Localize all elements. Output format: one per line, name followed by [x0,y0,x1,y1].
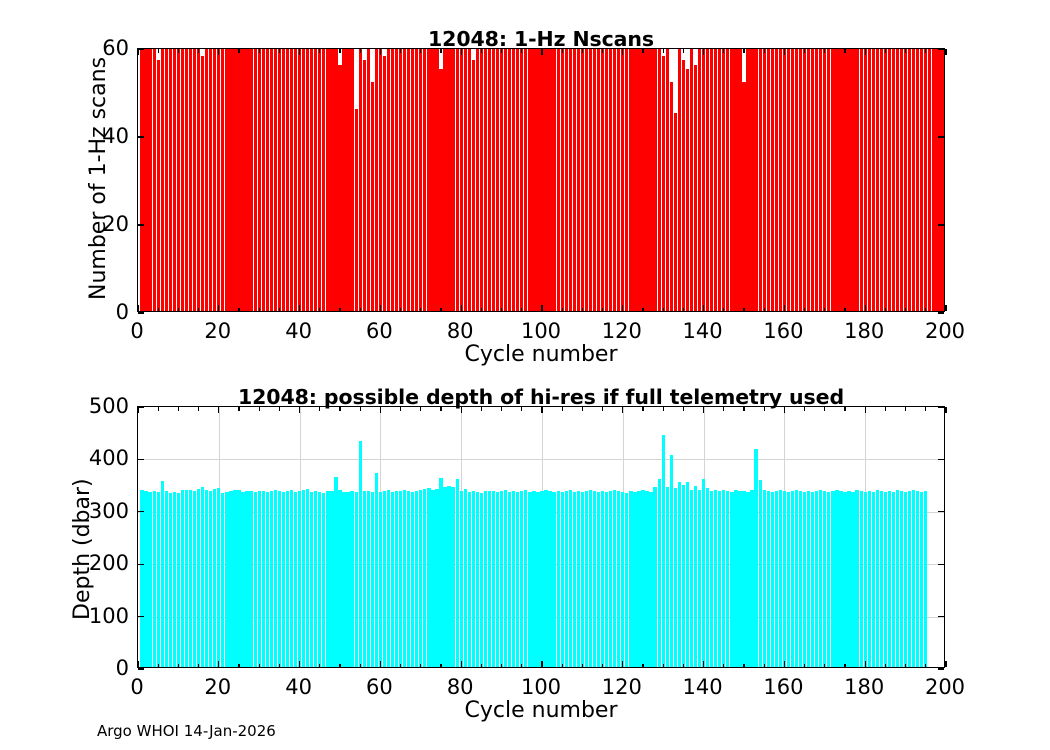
bar [722,490,725,667]
nscans-axes [137,48,945,312]
axis-tick [784,661,785,667]
bar [690,490,693,667]
axis-tick [703,49,704,55]
axis-tick [198,407,199,411]
axis-tick [925,407,926,411]
bar [399,49,402,311]
bar [516,49,519,311]
bar [447,486,450,667]
bar [645,49,648,311]
bar [314,49,317,311]
bar [342,492,345,667]
bar [363,491,366,667]
bar [144,49,147,311]
bar [334,49,337,311]
axis-tick [885,308,886,312]
axis-tick [562,664,563,668]
bar [468,492,471,667]
bar [451,49,454,311]
bar [298,491,301,667]
axis-tick [420,308,421,312]
bar [710,491,713,667]
bar [904,49,907,311]
bar [185,49,188,311]
axis-tick [938,406,944,407]
bar [678,482,681,667]
axis-tick [703,305,704,311]
nscans-plot-area [138,49,944,311]
x-tick-label: 180 [844,319,884,343]
bar [504,49,507,311]
bar [565,49,568,311]
bar [791,491,794,667]
bar [306,49,309,311]
bar [443,49,446,311]
bar [185,490,188,667]
axis-tick [622,661,623,667]
bar [161,481,164,667]
axis-tick [743,49,744,53]
axis-tick [945,407,946,413]
x-tick-label: 80 [447,319,474,343]
axis-tick [764,49,765,53]
bar [621,49,624,311]
bar [528,492,531,667]
bar [298,49,301,311]
bar [213,49,216,311]
axis-tick [481,664,482,668]
bar [338,65,341,311]
bar [694,65,697,311]
bar [670,455,673,667]
bar [415,491,418,667]
bar [924,49,927,311]
bar [605,49,608,311]
nscans-title: 12048: 1-Hz Nscans [428,27,654,51]
bar [750,49,753,311]
bar [593,491,596,667]
axis-tick [521,664,522,668]
bar [472,60,475,311]
x-tick-label: 120 [602,675,642,699]
bar [322,49,325,311]
x-tick-label: 100 [521,675,561,699]
bar [153,49,156,311]
bar [738,491,741,667]
bar [346,492,349,667]
bar [872,492,875,667]
bar [427,488,430,667]
bar [787,492,790,667]
bar [855,490,858,667]
axis-tick [138,511,144,512]
bar [476,492,479,667]
bar [827,49,830,311]
axis-tick [339,664,340,668]
bar [548,49,551,311]
bar [738,49,741,311]
bar [367,491,370,667]
bar [868,491,871,667]
bar [928,49,931,311]
bar [900,49,903,311]
bar [641,490,644,667]
x-tick-label: 140 [683,319,723,343]
bar [666,487,669,667]
axis-tick [501,308,502,312]
bar [851,49,854,311]
bar [496,492,499,667]
axis-tick [400,664,401,668]
axis-tick [865,49,866,55]
bar [383,491,386,667]
axis-tick [218,49,219,55]
bar [682,60,685,311]
bar [306,489,309,667]
bar [205,49,208,311]
bar [468,49,471,311]
axis-tick [158,407,159,411]
x-tick-label: 160 [763,319,803,343]
bar [674,488,677,667]
bar [282,492,285,667]
bar [807,491,810,667]
bar [880,49,883,311]
bar [419,49,422,311]
bar [835,49,838,311]
bar [884,49,887,311]
bar [795,49,798,311]
bar [908,491,911,667]
bar [649,49,652,311]
axis-tick [663,49,664,53]
bar [359,441,362,667]
axis-tick [723,664,724,668]
bar [197,49,200,311]
axis-tick [683,664,684,668]
bar [148,49,151,311]
axis-tick [824,49,825,53]
bar [302,490,305,667]
axis-tick [925,308,926,312]
bar [851,492,854,667]
bar [589,490,592,667]
bar [367,49,370,311]
nscans-xlabel: Cycle number [465,342,618,367]
bar [286,49,289,311]
bar [896,49,899,311]
bar [423,489,426,667]
axis-tick [683,308,684,312]
axis-tick [137,407,138,413]
bar [694,486,697,667]
bar [508,49,511,311]
bar [193,491,196,667]
bar [609,49,612,311]
bar [504,490,507,667]
bar [839,49,842,311]
bar [569,490,572,667]
axis-tick [905,49,906,53]
bar [718,491,721,667]
bar [633,492,636,667]
bar [617,491,620,667]
bar [843,492,846,667]
bar [359,49,362,311]
bar [375,49,378,311]
bar [872,49,875,311]
bar [904,492,907,667]
axis-tick [938,312,944,313]
bar [322,493,325,667]
axis-tick [925,664,926,668]
bar [771,492,774,667]
bar [678,49,681,311]
bar [157,60,160,311]
bar [229,491,232,667]
bar [823,491,826,667]
bar [746,492,749,667]
bar [173,49,176,311]
bar [690,49,693,311]
axis-tick [824,664,825,668]
bar [581,49,584,311]
bar [561,49,564,311]
axis-tick [339,308,340,312]
bar [803,492,806,667]
x-tick-label: 180 [844,675,884,699]
bar [407,491,410,667]
bar [730,49,733,311]
bar [577,491,580,667]
bar [201,56,204,311]
bar [274,49,277,311]
bar [799,49,802,311]
axis-tick [158,664,159,668]
axis-tick [938,564,944,565]
bar [480,49,483,311]
bar [310,492,313,667]
bar [443,487,446,667]
bar [520,491,523,667]
bar [884,492,887,667]
bar [888,491,891,667]
bar [892,49,895,311]
bar [718,49,721,311]
axis-tick [138,48,144,49]
x-tick-label: 0 [130,319,143,343]
axis-tick [380,661,381,667]
bar [698,490,701,667]
bar [552,49,555,311]
bar [601,491,604,667]
bar [249,491,252,667]
axis-tick [723,308,724,312]
bar [395,49,398,311]
bar [734,490,737,667]
bar [686,482,689,667]
bar [641,49,644,311]
axis-tick [461,305,462,311]
depth-title: 12048: possible depth of hi-res if full … [238,385,844,409]
bar [169,493,172,667]
bar [427,49,430,311]
bar [823,49,826,311]
axis-tick [804,664,805,668]
bar [439,69,442,311]
bar [383,56,386,311]
axis-tick [138,616,144,617]
bar [815,491,818,667]
bar [734,49,737,311]
bar [940,49,943,311]
axis-tick [885,664,886,668]
bar [286,491,289,667]
bar [625,49,628,311]
bar [783,49,786,311]
y-tick-label: 0 [75,300,129,324]
bar [750,490,753,667]
bar [569,49,572,311]
y-tick-label: 500 [75,394,129,418]
bar [245,49,248,311]
bar [787,49,790,311]
bar [342,49,345,311]
axis-tick [905,407,906,411]
bar [508,492,511,667]
axis-tick [158,49,159,53]
bar [864,49,867,311]
axis-tick [339,49,340,53]
x-tick-label: 120 [602,319,642,343]
bar [799,491,802,667]
bar [193,49,196,311]
bar [205,490,208,667]
axis-tick [541,305,542,311]
bar [326,49,329,311]
axis-tick [178,49,179,53]
bar [605,492,608,667]
axis-tick [723,49,724,53]
bar [577,49,580,311]
bar [581,492,584,667]
bar [843,49,846,311]
axis-tick [602,308,603,312]
axis-tick [663,664,664,668]
bar [290,490,293,667]
bar [920,49,923,311]
bar [419,490,422,667]
bar [387,490,390,667]
bar [254,49,257,311]
axis-tick [259,308,260,312]
bar [613,49,616,311]
bar [548,491,551,667]
bar [391,492,394,667]
axis-tick [938,511,944,512]
bar [730,492,733,667]
axis-tick [521,308,522,312]
bar [201,487,204,667]
bar [629,49,632,311]
bar [153,491,156,667]
bar [876,490,879,667]
bar [302,49,305,311]
bar [827,492,830,667]
axis-tick [259,49,260,53]
bar [855,49,858,311]
bar [488,49,491,311]
bar [431,49,434,311]
bar [346,49,349,311]
axis-tick [440,308,441,312]
bar [573,49,576,311]
axis-tick [844,407,845,411]
bar [282,49,285,311]
bar [262,49,265,311]
bar [355,109,358,311]
axis-tick [178,308,179,312]
axis-tick [481,308,482,312]
axis-tick [299,49,300,55]
bar [702,49,705,311]
axis-tick [299,305,300,311]
bar [217,488,220,667]
depth-plot-area [138,407,944,667]
x-tick-label: 200 [925,319,965,343]
axis-tick [683,49,684,53]
bar [480,493,483,667]
bar [512,491,515,667]
axis-tick [360,664,361,668]
bar [379,492,382,667]
bar [714,49,717,311]
bar [371,82,374,311]
axis-tick [925,49,926,53]
axis-tick [198,49,199,53]
axis-tick [299,661,300,667]
bar [544,49,547,311]
axis-tick [238,49,239,53]
x-tick-label: 80 [447,675,474,699]
bar [924,491,927,667]
bar [391,49,394,311]
bar [864,492,867,667]
bar [403,49,406,311]
axis-tick [865,661,866,667]
bar [771,49,774,311]
bar [831,491,834,667]
bar [456,479,459,667]
bar [387,49,390,311]
bar [759,49,762,311]
x-tick-label: 140 [683,675,723,699]
bar [209,491,212,667]
bar [173,492,176,667]
axis-tick [764,308,765,312]
bar [411,492,414,667]
bar [371,492,374,667]
bar [249,49,252,311]
bar [686,69,689,311]
bar [706,488,709,667]
bar [294,49,297,311]
bar [888,49,891,311]
bar [399,491,402,667]
bar [613,490,616,667]
axis-tick [178,664,179,668]
bar [779,49,782,311]
